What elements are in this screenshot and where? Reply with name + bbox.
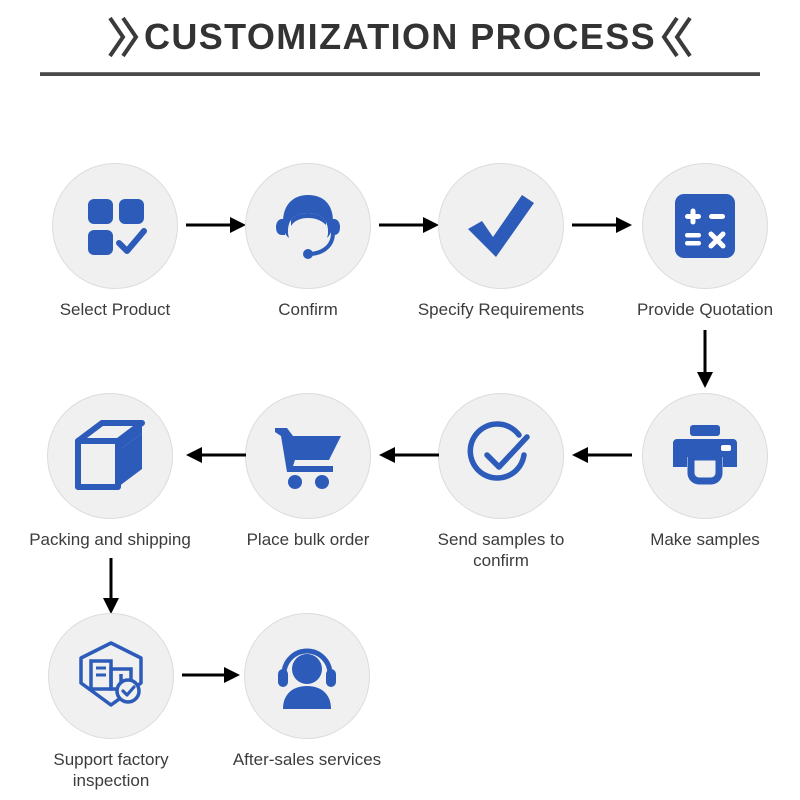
- step-icon-bubble: [48, 613, 174, 739]
- step-node-packing-and-shipping[interactable]: Packing and shipping: [25, 393, 195, 550]
- step-node-make-samples[interactable]: Make samples: [620, 393, 790, 550]
- step-node-specify-requirements[interactable]: Specify Requirements: [416, 163, 586, 320]
- page-header: CUSTOMIZATION PROCESS: [0, 0, 800, 92]
- support-agent-icon: [271, 189, 345, 263]
- step-node-provide-quotation[interactable]: Provide Quotation: [620, 163, 790, 320]
- double-chevron-left-icon: [660, 14, 694, 60]
- factory-inspection-shield-icon: [73, 639, 149, 713]
- step-icon-bubble: [642, 163, 768, 289]
- step-icon-bubble: [438, 163, 564, 289]
- step-node-confirm[interactable]: Confirm: [223, 163, 393, 320]
- step-node-select-product[interactable]: Select Product: [30, 163, 200, 320]
- title-divider: [40, 72, 760, 76]
- step-icon-bubble: [245, 163, 371, 289]
- calculator-icon: [671, 190, 739, 262]
- double-chevron-right-icon: [106, 14, 140, 60]
- step-icon-bubble: [244, 613, 370, 739]
- check-mark-icon: [462, 187, 540, 265]
- headset-person-icon: [269, 641, 345, 711]
- check-circle-icon: [462, 417, 540, 495]
- arrow-step7-to-step8: [186, 444, 246, 466]
- step-label: Send samples to confirm: [416, 529, 586, 571]
- step-node-send-samples-to-confirm[interactable]: Send samples to confirm: [416, 393, 586, 571]
- step-label: Support factory inspection: [26, 749, 196, 791]
- step-icon-bubble: [52, 163, 178, 289]
- step-label: Specify Requirements: [416, 299, 586, 320]
- title-row: CUSTOMIZATION PROCESS: [0, 8, 800, 66]
- arrow-step8-to-step9: [100, 558, 122, 614]
- package-box-icon: [72, 419, 148, 493]
- step-label: Provide Quotation: [620, 299, 790, 320]
- grid-check-icon: [80, 191, 150, 261]
- arrow-step4-to-step5: [694, 330, 716, 388]
- step-node-after-sales-services[interactable]: After-sales services: [222, 613, 392, 770]
- step-label: Confirm: [223, 299, 393, 320]
- step-icon-bubble: [642, 393, 768, 519]
- step-label: Make samples: [620, 529, 790, 550]
- step-label: Place bulk order: [223, 529, 393, 550]
- step-icon-bubble: [438, 393, 564, 519]
- shopping-cart-icon: [271, 422, 345, 490]
- step-label: Packing and shipping: [25, 529, 195, 550]
- page-title: CUSTOMIZATION PROCESS: [144, 16, 656, 58]
- step-icon-bubble: [245, 393, 371, 519]
- step-node-support-factory-inspection[interactable]: Support factory inspection: [26, 613, 196, 791]
- step-icon-bubble: [47, 393, 173, 519]
- printer-icon: [669, 423, 741, 489]
- step-label: After-sales services: [222, 749, 392, 770]
- step-label: Select Product: [30, 299, 200, 320]
- step-node-place-bulk-order[interactable]: Place bulk order: [223, 393, 393, 550]
